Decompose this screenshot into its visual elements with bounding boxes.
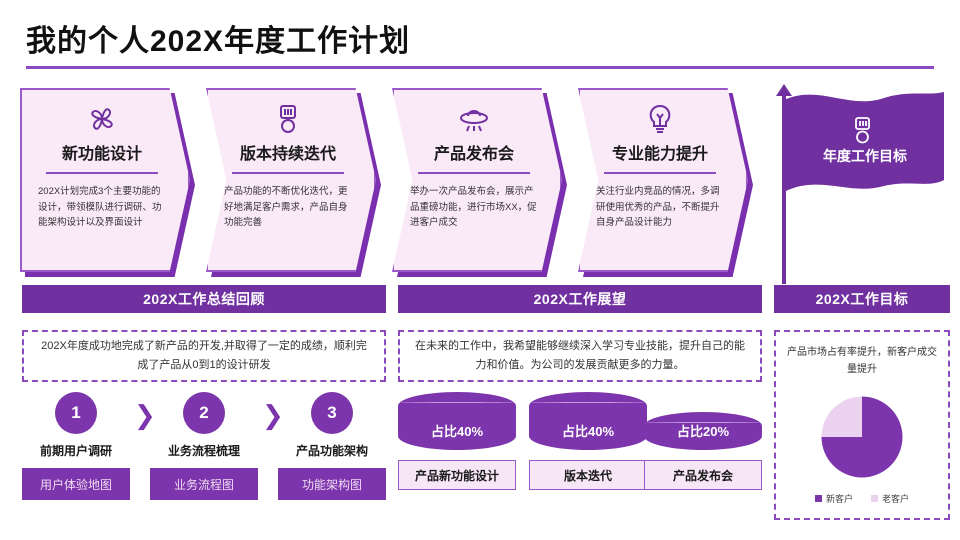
step-tag-3[interactable]: 功能架构图 (278, 468, 386, 500)
medal-icon (273, 102, 303, 136)
page-title: 我的个人202X年度工作计划 (26, 16, 410, 60)
flag-label: 年度工作目标 (800, 146, 930, 166)
cylinder-rim (531, 402, 645, 403)
cylinder-chart-group: 占比40% 产品新功能设计 占比40% 版本迭代 占比20% 产品发布会 (398, 392, 762, 522)
cylinder-label-2[interactable]: 版本迭代 (529, 460, 647, 490)
title-divider (26, 66, 934, 69)
cylinder-value-2: 占比40% (562, 421, 614, 450)
step-2[interactable]: 2 业务流程梳理 业务流程图 (150, 392, 258, 500)
card-body-3: 产品发布会 举办一次产品发布会，展示产品重磅功能，进行市场XX，促进客户成交 (392, 88, 562, 272)
step-label-2: 业务流程梳理 (150, 442, 258, 459)
process-card-4[interactable]: 专业能力提升 关注行业内竞品的情况，多调研使用优秀的产品，不断提升自身产品设计能… (578, 88, 748, 272)
card-text-3: 举办一次产品发布会，展示产品重磅功能，进行市场XX，促进客户成交 (410, 184, 538, 231)
goal-flag: 年度工作目标 (772, 84, 958, 284)
section-bar-goal: 202X工作目标 (774, 285, 950, 313)
step-tag-2[interactable]: 业务流程图 (150, 468, 258, 500)
card-text-1: 202X计划完成3个主要功能的设计，带领模队进行调研、功能架构设计以及界面设计 (38, 184, 166, 231)
pie-legend: 新客户 老客户 (786, 492, 938, 505)
card-divider (604, 172, 716, 174)
cylinder-shape-2: 占比40% (529, 392, 647, 450)
cylinder-shape-3: 占比20% (644, 412, 762, 450)
card-divider (46, 172, 158, 174)
card-title-3: 产品发布会 (434, 140, 514, 164)
legend-swatch-new (815, 495, 822, 502)
pie-chart (786, 392, 938, 482)
card-divider (418, 172, 530, 174)
cylinder-label-3[interactable]: 产品发布会 (644, 460, 762, 490)
card-text-4: 关注行业内竞品的情况，多调研使用优秀的产品，不断提升自身产品设计能力 (596, 184, 724, 231)
section-bar-summary: 202X工作总结回顾 (22, 285, 386, 313)
step-label-3: 产品功能架构 (278, 442, 386, 459)
legend-label-old: 老客户 (882, 492, 909, 505)
ufo-icon (457, 102, 491, 136)
card-body-4: 专业能力提升 关注行业内竞品的情况，多调研使用优秀的产品，不断提升自身产品设计能… (578, 88, 748, 272)
goal-panel: 产品市场占有率提升，新客户成交量提升 新客户 老客户 (774, 330, 950, 520)
card-body-1: 新功能设计 202X计划完成3个主要功能的设计，带领模队进行调研、功能架构设计以… (20, 88, 190, 272)
cylinder-2: 占比40% 版本迭代 (529, 392, 647, 490)
cylinder-label-1[interactable]: 产品新功能设计 (398, 460, 516, 490)
card-text-2: 产品功能的不断优化迭代，更好地满足客户需求，产品自身功能完善 (224, 184, 352, 231)
pinwheel-icon (86, 102, 118, 136)
lightbulb-icon (646, 102, 674, 136)
step-label-1: 前期用户调研 (22, 442, 130, 459)
step-number-1: 1 (55, 392, 97, 434)
process-card-1[interactable]: 新功能设计 202X计划完成3个主要功能的设计，带领模队进行调研、功能架构设计以… (20, 88, 190, 272)
cylinder-value-3: 占比20% (677, 421, 729, 450)
goal-panel-text: 产品市场占有率提升，新客户成交量提升 (786, 344, 938, 378)
pie-slice-old-customers (822, 397, 863, 438)
legend-swatch-old (871, 495, 878, 502)
cylinder-value-1: 占比40% (431, 421, 483, 450)
section-bar-outlook: 202X工作展望 (398, 285, 762, 313)
cylinder-1: 占比40% 产品新功能设计 (398, 392, 516, 490)
step-number-3: 3 (311, 392, 353, 434)
process-cards-row: 新功能设计 202X计划完成3个主要功能的设计，带领模队进行调研、功能架构设计以… (20, 88, 760, 278)
step-tag-1[interactable]: 用户体验地图 (22, 468, 130, 500)
step-3[interactable]: 3 产品功能架构 功能架构图 (278, 392, 386, 500)
cylinder-rim (400, 402, 514, 403)
summary-text-left: 202X年度成功地完成了新产品的开发,并取得了一定的成绩，顺利完成了产品从0到1… (22, 330, 386, 382)
summary-text-middle: 在未来的工作中，我希望能够继续深入学习专业技能，提升自己的能力和价值。为公司的发… (398, 330, 762, 382)
card-divider (232, 172, 344, 174)
legend-item-old: 老客户 (871, 492, 909, 505)
steps-group: 1 前期用户调研 用户体验地图 ❯ 2 业务流程梳理 业务流程图 ❯ 3 产品功… (22, 392, 386, 522)
card-title-1: 新功能设计 (62, 140, 142, 164)
process-card-2[interactable]: 版本持续迭代 产品功能的不断优化迭代，更好地满足客户需求，产品自身功能完善 (206, 88, 376, 272)
step-1[interactable]: 1 前期用户调研 用户体验地图 (22, 392, 130, 500)
medal-icon (850, 116, 876, 146)
cylinder-shape-1: 占比40% (398, 392, 516, 450)
process-card-3[interactable]: 产品发布会 举办一次产品发布会，展示产品重磅功能，进行市场XX，促进客户成交 (392, 88, 562, 272)
card-body-2: 版本持续迭代 产品功能的不断优化迭代，更好地满足客户需求，产品自身功能完善 (206, 88, 376, 272)
legend-label-new: 新客户 (826, 492, 853, 505)
step-number-2: 2 (183, 392, 225, 434)
legend-item-new: 新客户 (815, 492, 853, 505)
card-title-2: 版本持续迭代 (240, 140, 336, 164)
cylinder-3: 占比20% 产品发布会 (644, 412, 762, 490)
card-title-4: 专业能力提升 (612, 140, 708, 164)
